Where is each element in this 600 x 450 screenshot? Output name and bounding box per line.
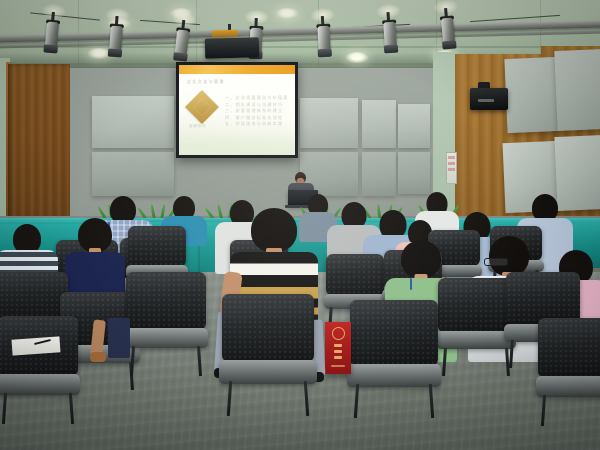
seminar-room-photo: 企业文化与管理 品牌标识 一、企业发展理念与价值观 二、团队建设与沟通技巧 三、… [0,0,600,450]
acoustic-panel-right [554,49,600,131]
spotlight-fixture [380,11,399,56]
screen-surface: 企业文化与管理 品牌标识 一、企业发展理念与价值观 二、团队建设与沟通技巧 三、… [179,65,295,155]
acoustic-panel-right [504,57,559,133]
slide-line: 五、持续改进与创新实践 [225,121,289,128]
chair-back-rest [222,294,314,362]
slide-line: 二、团队建设与沟通技巧 [225,102,289,109]
handout-paper [12,336,61,355]
ceiling-projector [205,37,260,58]
chair-mid-1 [126,272,206,372]
attendee-shoe [90,352,106,362]
acoustic-panel-right [554,135,600,211]
acoustic-panel [362,100,396,148]
glasses-icon [484,258,508,266]
spotlight-fixture [315,16,333,61]
red-gift-bag [325,322,351,374]
chair-seat [0,374,80,395]
slide-line: 一、企业发展理念与价值观 [225,95,289,102]
lanyard [410,278,412,290]
chair-empty-front-left [0,316,78,420]
slide-logo-caption: 品牌标识 [189,123,207,128]
acoustic-panel [362,152,396,196]
acoustic-panel [92,96,174,148]
projector-bracket [212,30,238,38]
slide-line: 三、质量管理体系的建立 [225,108,289,115]
chair-back-rest [350,300,438,366]
chair-mid-3 [222,294,314,412]
chair-back-rest [128,226,186,267]
chair-seat [219,360,317,384]
slide-accent-bar [179,65,295,74]
chair-seat [536,376,600,397]
wall-notice-sign [446,152,457,184]
chair-back-rest [438,278,514,333]
downlight-icon [276,8,298,19]
chair-back-rest [126,272,206,330]
acoustic-panel [398,152,430,194]
left-wood-panel [8,64,70,234]
chair-back-rest [538,318,600,378]
chair-seat [124,328,209,348]
chair-seat [347,364,440,387]
acoustic-panel [398,104,430,148]
slide-body: 一、企业发展理念与价值观 二、团队建设与沟通技巧 三、质量管理体系的建立 四、客… [225,95,289,128]
screen-glare [179,129,295,155]
downlight-icon [346,52,368,63]
chair-back-rest [326,254,384,296]
projection-screen: 企业文化与管理 品牌标识 一、企业发展理念与价值观 二、团队建设与沟通技巧 三、… [176,62,298,158]
chair-right-6 [538,318,600,422]
acoustic-panel [92,152,174,196]
handbag [108,318,130,358]
gift-bag-seal-icon [332,327,345,340]
spotlight-fixture [106,15,125,60]
slide-line: 四、客户服务标准化流程 [225,115,289,122]
slide-title: 企业文化与管理 [187,79,225,85]
acoustic-panel [300,98,358,148]
chair-right-4 [438,278,514,372]
speaker-brand-label [478,99,494,102]
chair-right-3 [350,300,438,414]
